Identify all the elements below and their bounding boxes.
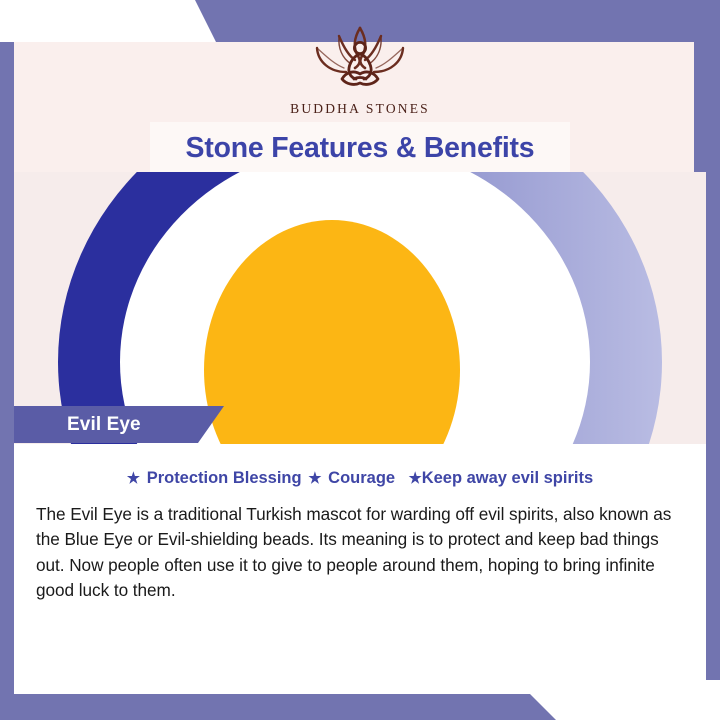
evil-eye-caption-banner: Evil Eye [14, 406, 224, 443]
benefit-item-3: Keep away evil spirits [422, 468, 593, 487]
frame-bottom-bar [0, 694, 720, 720]
star-icon-3: ★ [409, 470, 422, 487]
description-text: The Evil Eye is a traditional Turkish ma… [36, 502, 684, 604]
page-title: Stone Features & Benefits [186, 132, 535, 165]
star-icon-1: ★ [127, 470, 140, 487]
lotus-meditation-icon [292, 22, 428, 96]
brand-wordmark: BUDDHA STONES [290, 101, 430, 117]
frame-left-bar [0, 42, 14, 702]
benefits-list: ★Protection Blessing★Courage★Keep away e… [46, 468, 675, 488]
content-area: ★Protection Blessing★Courage★Keep away e… [14, 444, 706, 694]
benefit-item-2: Courage [328, 468, 395, 487]
caption-label: Evil Eye [67, 414, 141, 436]
brand-logo: BUDDHA STONES [0, 22, 720, 117]
title-plate: Stone Features & Benefits [150, 122, 570, 174]
star-icon-2: ★ [308, 470, 321, 487]
infographic-page: BUDDHA STONES Stone Features & Benefits [0, 0, 720, 720]
evil-eye-image [14, 172, 706, 444]
evil-eye-graphic [14, 172, 706, 444]
benefit-item-1: Protection Blessing [147, 468, 302, 487]
